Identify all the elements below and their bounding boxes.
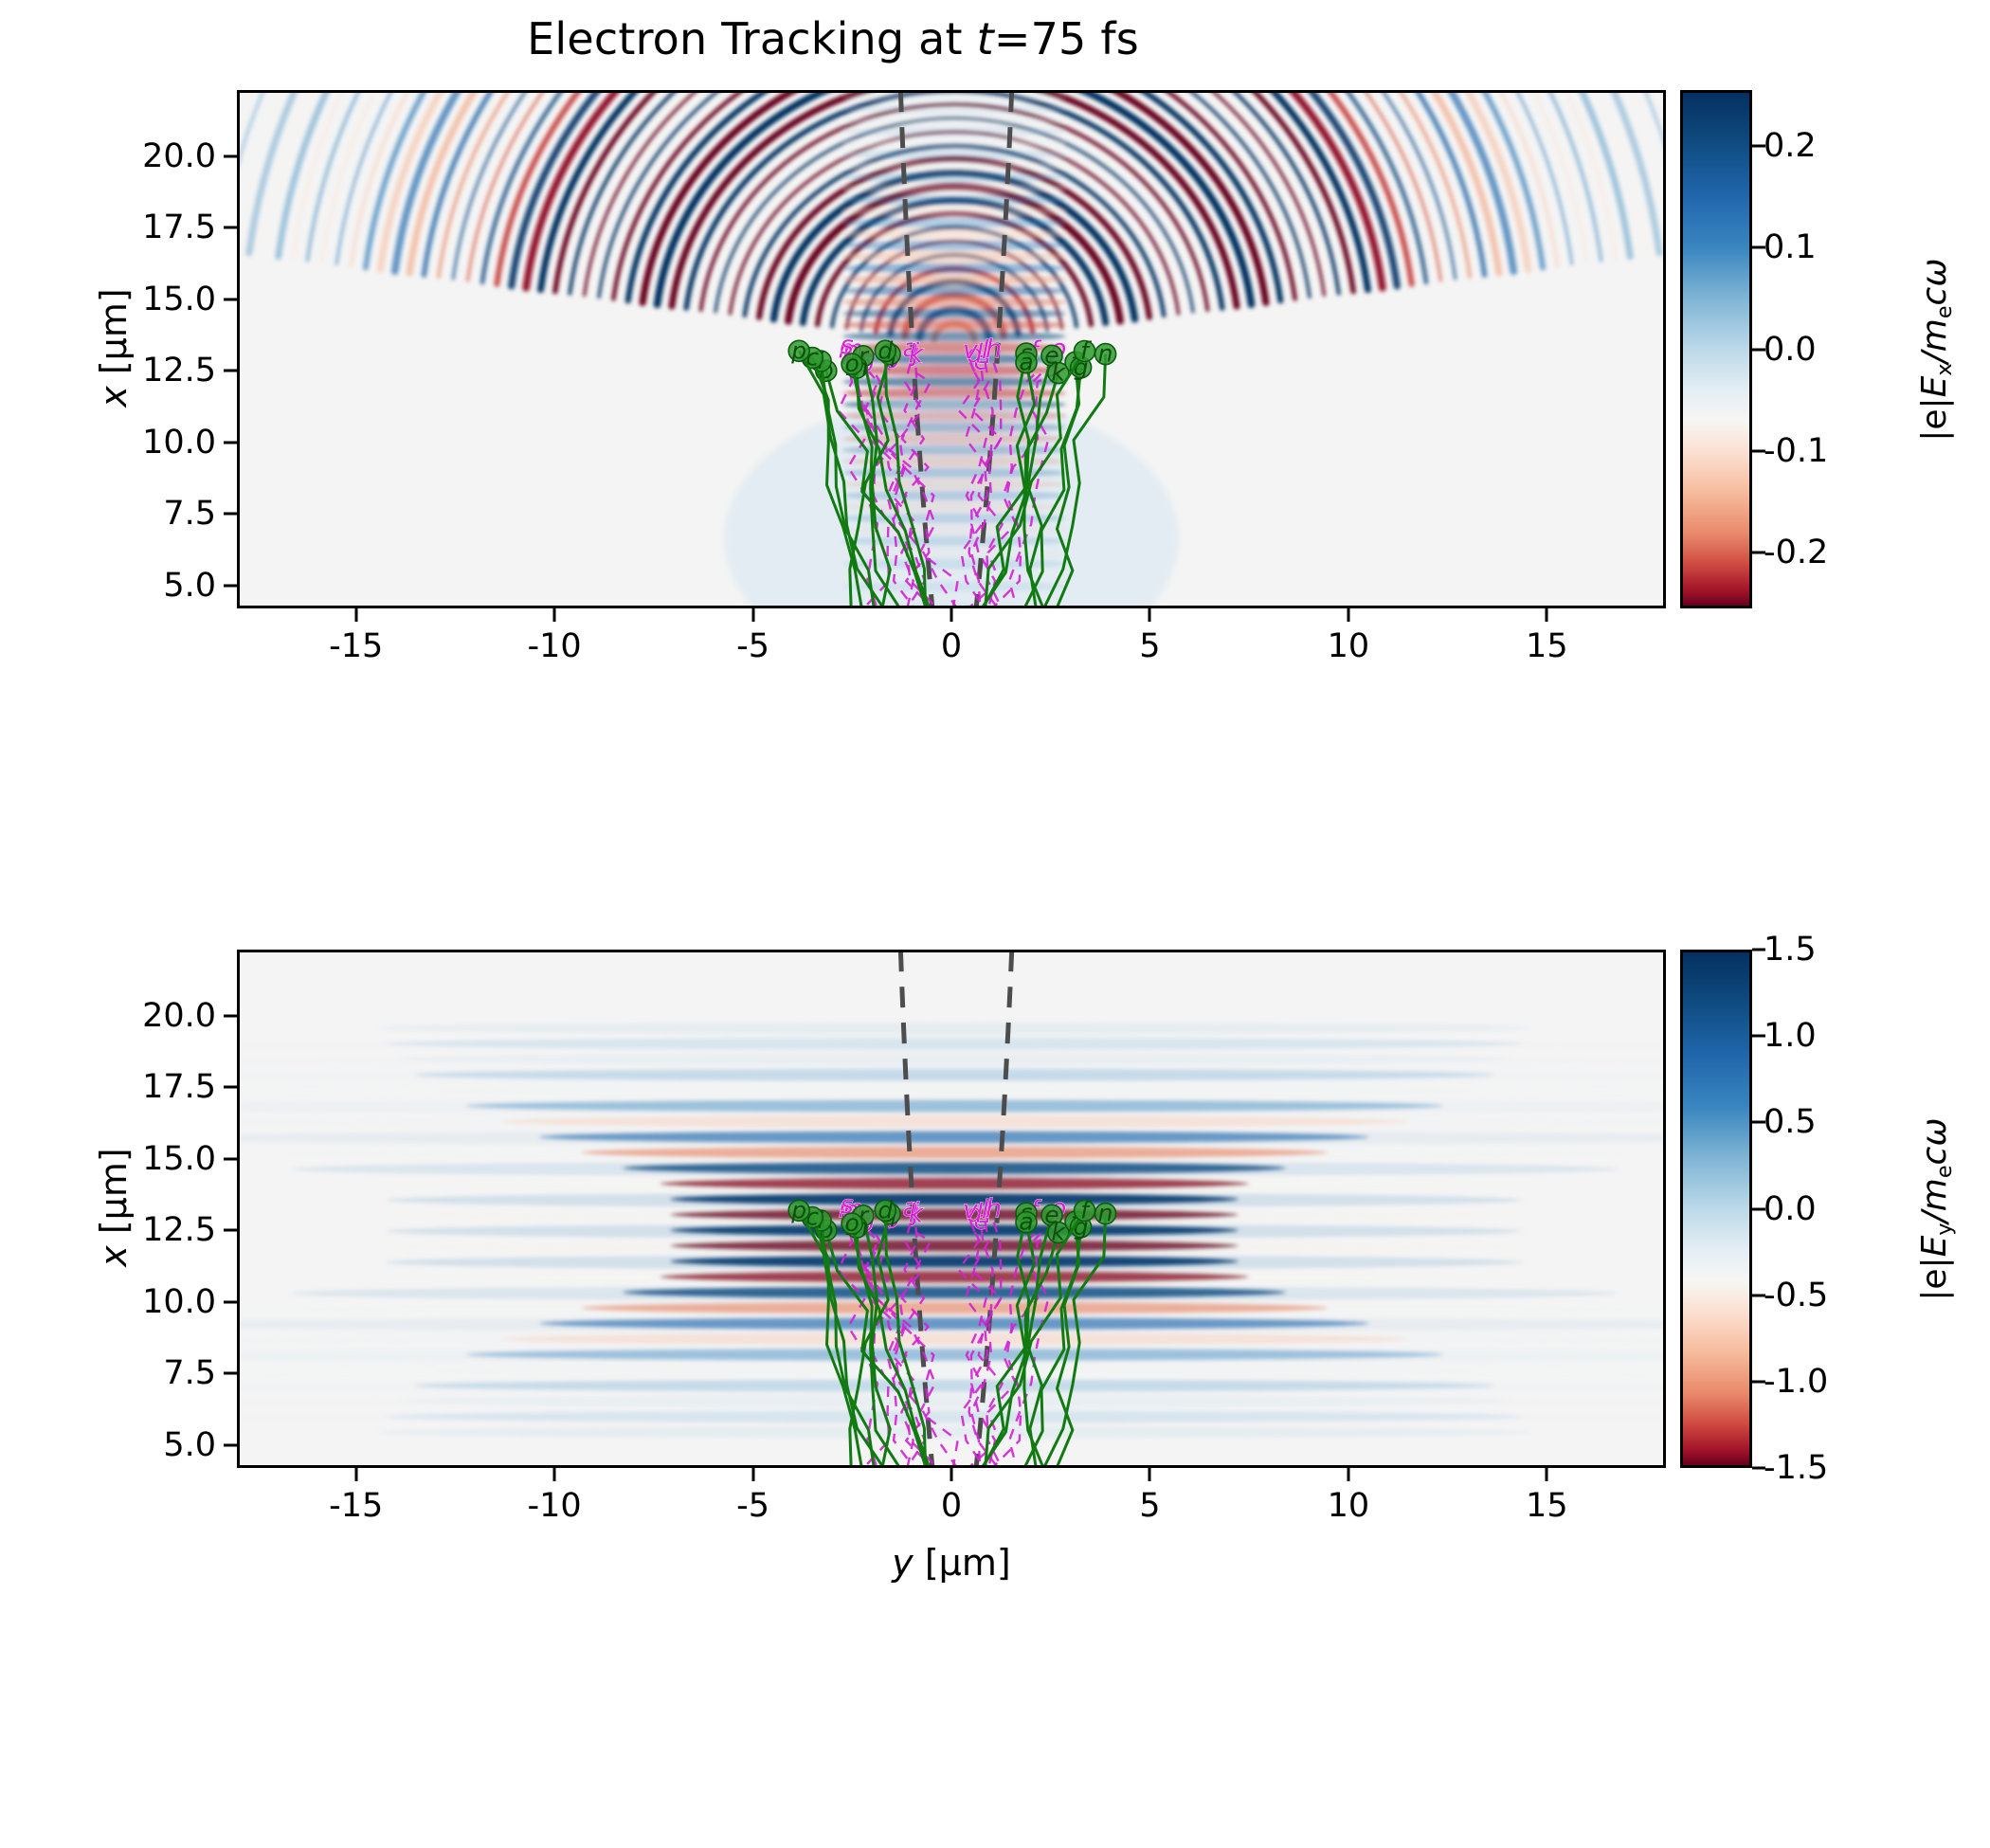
colorbar-label-Ey: |e|Ey/mecω (1915, 1053, 1957, 1366)
field-fringe (842, 263, 1066, 273)
x-tick-mark-0-4 (1149, 608, 1151, 622)
cbar-tick-label-1-5: -1.0 (1764, 1363, 1828, 1401)
colorbar-label-Ex: |e|Ex/mecω (1915, 193, 1957, 506)
x-tick-label-1-5: 10 (1328, 1487, 1370, 1525)
y-tick-mark-0-5 (224, 513, 237, 516)
x-tick-mark-0-6 (1546, 608, 1548, 622)
field-fringe-wing (240, 1099, 1663, 1114)
field-fringe (842, 194, 1066, 205)
field-fringe (842, 274, 1066, 284)
x-tick-label-1-1: -10 (528, 1487, 582, 1525)
y-tick-mark-1-4 (224, 1300, 237, 1303)
x-tick-label-1-0: -15 (329, 1487, 383, 1525)
field-fringe-wing (240, 1053, 1663, 1068)
y-tick-mark-1-3 (224, 1229, 237, 1232)
panel-ex-field: benomfghjlptsdavkqsdaremkotbgifcnp (237, 90, 1666, 608)
cbar-tick-label-1-2: 0.5 (1764, 1103, 1817, 1141)
field-fringe-wing (240, 1364, 1663, 1379)
y-tick-label-1-0: 20.0 (0, 997, 216, 1035)
colorbar-ey-ticks: 1.51.00.50.0-0.5-1.0-1.5|e|Ey/mecω (1680, 950, 1964, 1468)
panel-ey-field: benomfghjlptsdavkqsdaremkotbgifcnp (237, 950, 1666, 1468)
y-tick-label-0-0: 20.0 (0, 137, 216, 175)
x-tick-label-0-6: 15 (1526, 627, 1568, 665)
trajectory-marker-magenta: k (909, 339, 925, 369)
trajectory-marker-magenta: v (963, 1195, 979, 1224)
field-fringe (842, 115, 1066, 125)
x-tick-label-1-3: 0 (941, 1487, 962, 1525)
cbar-tick-label-1-3: 0.0 (1764, 1190, 1817, 1228)
field-fringe-wing (386, 1240, 1523, 1255)
x-tick-mark-0-3 (950, 608, 953, 622)
y-tick-mark-0-2 (224, 298, 237, 300)
y-axis-label-1: x [μm] (93, 1094, 135, 1321)
field-fringe (842, 285, 1066, 296)
y-tick-mark-0-1 (224, 226, 237, 229)
field-fringe-wing (290, 1162, 1619, 1177)
title-value: =75 fs (994, 13, 1139, 64)
trajectory-marker-green: a (1019, 349, 1033, 376)
field-fringe (842, 297, 1066, 307)
field-fringe-wing (240, 1131, 1663, 1146)
x-tick-mark-1-5 (1347, 1468, 1349, 1481)
x-tick-label-0-5: 10 (1328, 627, 1370, 665)
x-tick-mark-1-1 (553, 1468, 556, 1481)
field-fringe (842, 206, 1066, 216)
field-fringe-wing (240, 1084, 1663, 1099)
x-tick-label-0-1: -10 (528, 627, 582, 665)
x-tick-label-1-2: -5 (736, 1487, 769, 1525)
figure-title: Electron Tracking at t=75 fs (0, 13, 1666, 64)
field-fringe-wing (240, 1114, 1663, 1130)
x-tick-mark-1-2 (751, 1468, 754, 1481)
cbar-tick-label-0-2: 0.0 (1764, 331, 1817, 369)
y-tick-mark-0-4 (224, 441, 237, 444)
cbar-tick-label-0-3: -0.1 (1764, 432, 1828, 470)
field-fringe (842, 228, 1066, 239)
cbar-tick-label-0-0: 0.2 (1764, 127, 1817, 165)
ey-field-image: benomfghjlptsdavkqsdaremkotbgifcnp (240, 952, 1663, 1465)
y-tick-mark-1-5 (224, 1372, 237, 1375)
field-fringe (376, 1023, 1532, 1035)
x-tick-label-0-3: 0 (941, 627, 962, 665)
x-tick-label-0-0: -15 (329, 627, 383, 665)
trajectory-marker-green: o (844, 350, 859, 377)
field-fringe-wing (386, 1223, 1523, 1239)
cbar-tick-label-1-0: 1.5 (1764, 931, 1817, 969)
field-fringe-wing (386, 1255, 1523, 1270)
title-variable: t (977, 13, 994, 64)
field-fringe (842, 137, 1066, 148)
cbar-tick-label-1-1: 1.0 (1764, 1017, 1817, 1055)
figure-root: Electron Tracking at t=75 fs benomfghjlp… (0, 0, 1990, 1848)
field-fringe (842, 217, 1066, 227)
field-fringe-wing (240, 1068, 1663, 1083)
x-tick-mark-1-3 (950, 1468, 953, 1481)
y-tick-mark-0-3 (224, 370, 237, 372)
x-tick-mark-1-4 (1149, 1468, 1151, 1481)
field-fringe (842, 149, 1066, 159)
field-fringe (842, 126, 1066, 136)
y-tick-label-1-6: 5.0 (0, 1426, 216, 1464)
x-tick-label-1-6: 15 (1526, 1487, 1568, 1525)
field-fringe (842, 319, 1066, 330)
cbar-tick-label-1-6: -1.5 (1764, 1449, 1828, 1487)
y-tick-mark-1-2 (224, 1157, 237, 1160)
field-fringe-wing (240, 1301, 1663, 1316)
field-fringe-wing (386, 1192, 1523, 1207)
field-fringe (842, 251, 1066, 262)
y-tick-label-0-5: 7.5 (0, 495, 216, 533)
field-fringe-wing (365, 1177, 1544, 1192)
x-tick-label-1-4: 5 (1139, 1487, 1160, 1525)
y-tick-label-1-5: 7.5 (0, 1354, 216, 1392)
x-tick-mark-1-6 (1546, 1468, 1548, 1481)
field-fringe-wing (365, 1270, 1544, 1285)
field-fringe-wing (240, 1037, 1663, 1052)
field-fringe-wing (386, 1208, 1523, 1223)
x-tick-mark-0-5 (1347, 608, 1349, 622)
x-tick-label-0-4: 5 (1139, 627, 1160, 665)
x-tick-mark-0-2 (751, 608, 754, 622)
field-fringe (842, 308, 1066, 318)
trajectory-marker-green: o (844, 1209, 859, 1237)
field-fringe-wing (290, 1286, 1619, 1301)
field-fringe-wing (240, 1410, 1663, 1425)
field-fringe-wing (240, 1379, 1663, 1394)
trajectory-marker-green: p (790, 336, 806, 364)
x-tick-mark-0-0 (354, 608, 357, 622)
y-axis-label-0: x [μm] (93, 234, 135, 462)
colorbar-ex-ticks: 0.20.10.0-0.1-0.2|e|Ex/mecω (1680, 90, 1964, 608)
field-fringe (842, 160, 1066, 171)
field-fringe-wing (240, 1317, 1663, 1332)
x-tick-mark-0-1 (553, 608, 556, 622)
trajectory-marker-magenta: v (963, 335, 979, 365)
cbar-tick-label-0-4: -0.2 (1764, 534, 1828, 571)
y-tick-mark-0-0 (224, 154, 237, 157)
y-tick-mark-1-6 (224, 1443, 237, 1446)
title-prefix: Electron Tracking at (527, 13, 976, 64)
y-tick-mark-1-1 (224, 1086, 237, 1089)
cbar-tick-label-1-4: -0.5 (1764, 1277, 1828, 1314)
trajectory-marker-magenta: k (909, 1199, 925, 1228)
field-fringe (842, 172, 1066, 182)
field-fringe (376, 1426, 1532, 1439)
trajectory-marker-green: d (877, 1196, 893, 1223)
trajectory-marker-green: p (790, 1196, 806, 1223)
cbar-tick-label-0-1: 0.1 (1764, 228, 1817, 266)
trajectory-marker-green: d (877, 336, 893, 364)
field-fringe (842, 103, 1066, 114)
x-tick-mark-1-0 (354, 1468, 357, 1481)
trajectory-marker-green: a (1019, 1208, 1033, 1236)
x-axis-label: y [μm] (892, 1542, 1010, 1584)
trajectory-marker-green: n (1098, 1200, 1113, 1227)
field-fringe-wing (240, 1332, 1663, 1348)
field-fringe-wing (240, 1146, 1663, 1161)
y-tick-label-0-6: 5.0 (0, 567, 216, 605)
y-tick-mark-0-6 (224, 584, 237, 587)
ex-field-image: benomfghjlptsdavkqsdaremkotbgifcnp (240, 93, 1663, 606)
field-fringe-wing (240, 1395, 1663, 1410)
field-fringe (842, 183, 1066, 193)
y-tick-mark-1-0 (224, 1014, 237, 1017)
x-tick-label-0-2: -5 (736, 627, 769, 665)
trajectory-marker-green: n (1098, 340, 1113, 368)
field-fringe-wing (240, 1348, 1663, 1363)
field-fringe (842, 240, 1066, 250)
